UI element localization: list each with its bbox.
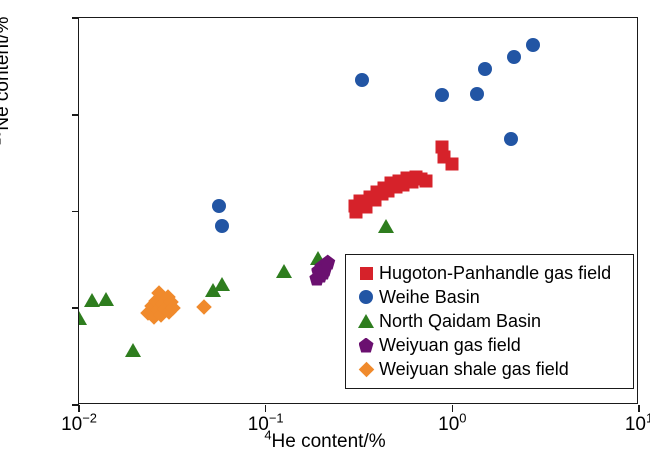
legend-marker-circle-icon — [353, 290, 379, 304]
legend-marker-diamond-icon — [353, 364, 379, 375]
figure: 10−510−610−710−810−910−210−1100101 20Ne … — [0, 0, 650, 463]
x-axis-title-text: 4He content/% — [264, 431, 385, 452]
y-tick — [72, 17, 79, 19]
data-point — [197, 300, 213, 316]
legend: Hugoton-Panhandle gas fieldWeihe BasinNo… — [345, 254, 634, 389]
x-tick — [638, 405, 640, 412]
data-point — [419, 175, 432, 188]
data-point — [214, 277, 230, 291]
y-tick — [72, 307, 79, 309]
legend-label: North Qaidam Basin — [379, 311, 541, 332]
x-tick — [78, 405, 80, 412]
y-axis-title: 20Ne content/% — [0, 17, 14, 145]
data-point — [79, 311, 87, 325]
data-point — [276, 264, 292, 278]
data-point — [478, 62, 492, 76]
legend-item[interactable]: Hugoton-Panhandle gas field — [353, 261, 626, 285]
data-point — [215, 219, 229, 233]
data-point — [378, 219, 394, 233]
data-point — [125, 343, 141, 357]
legend-item[interactable]: Weiyuan shale gas field — [353, 357, 626, 381]
legend-item[interactable]: Weiyuan gas field — [353, 333, 626, 357]
legend-item[interactable]: North Qaidam Basin — [353, 309, 626, 333]
y-tick — [72, 211, 79, 213]
legend-label: Weiyuan gas field — [379, 335, 521, 356]
data-point — [470, 87, 484, 101]
x-tick — [265, 405, 267, 412]
x-axis-title: 4He content/% — [0, 431, 650, 453]
legend-label: Weiyuan shale gas field — [379, 359, 569, 380]
data-point — [435, 88, 449, 102]
legend-marker-pentagon-icon — [353, 338, 379, 353]
data-point — [98, 292, 114, 306]
legend-marker-square-icon — [353, 267, 379, 280]
y-tick — [72, 114, 79, 116]
data-point — [355, 73, 369, 87]
legend-label: Hugoton-Panhandle gas field — [379, 263, 611, 284]
legend-label: Weihe Basin — [379, 287, 480, 308]
y-axis-title-text: 20Ne content/% — [0, 17, 13, 145]
data-point — [212, 199, 226, 213]
legend-marker-triangle-icon — [353, 314, 379, 328]
data-point — [507, 50, 521, 64]
legend-item[interactable]: Weihe Basin — [353, 285, 626, 309]
x-tick — [452, 405, 454, 412]
data-point — [526, 38, 540, 52]
data-point — [445, 157, 458, 170]
data-point — [504, 132, 518, 146]
